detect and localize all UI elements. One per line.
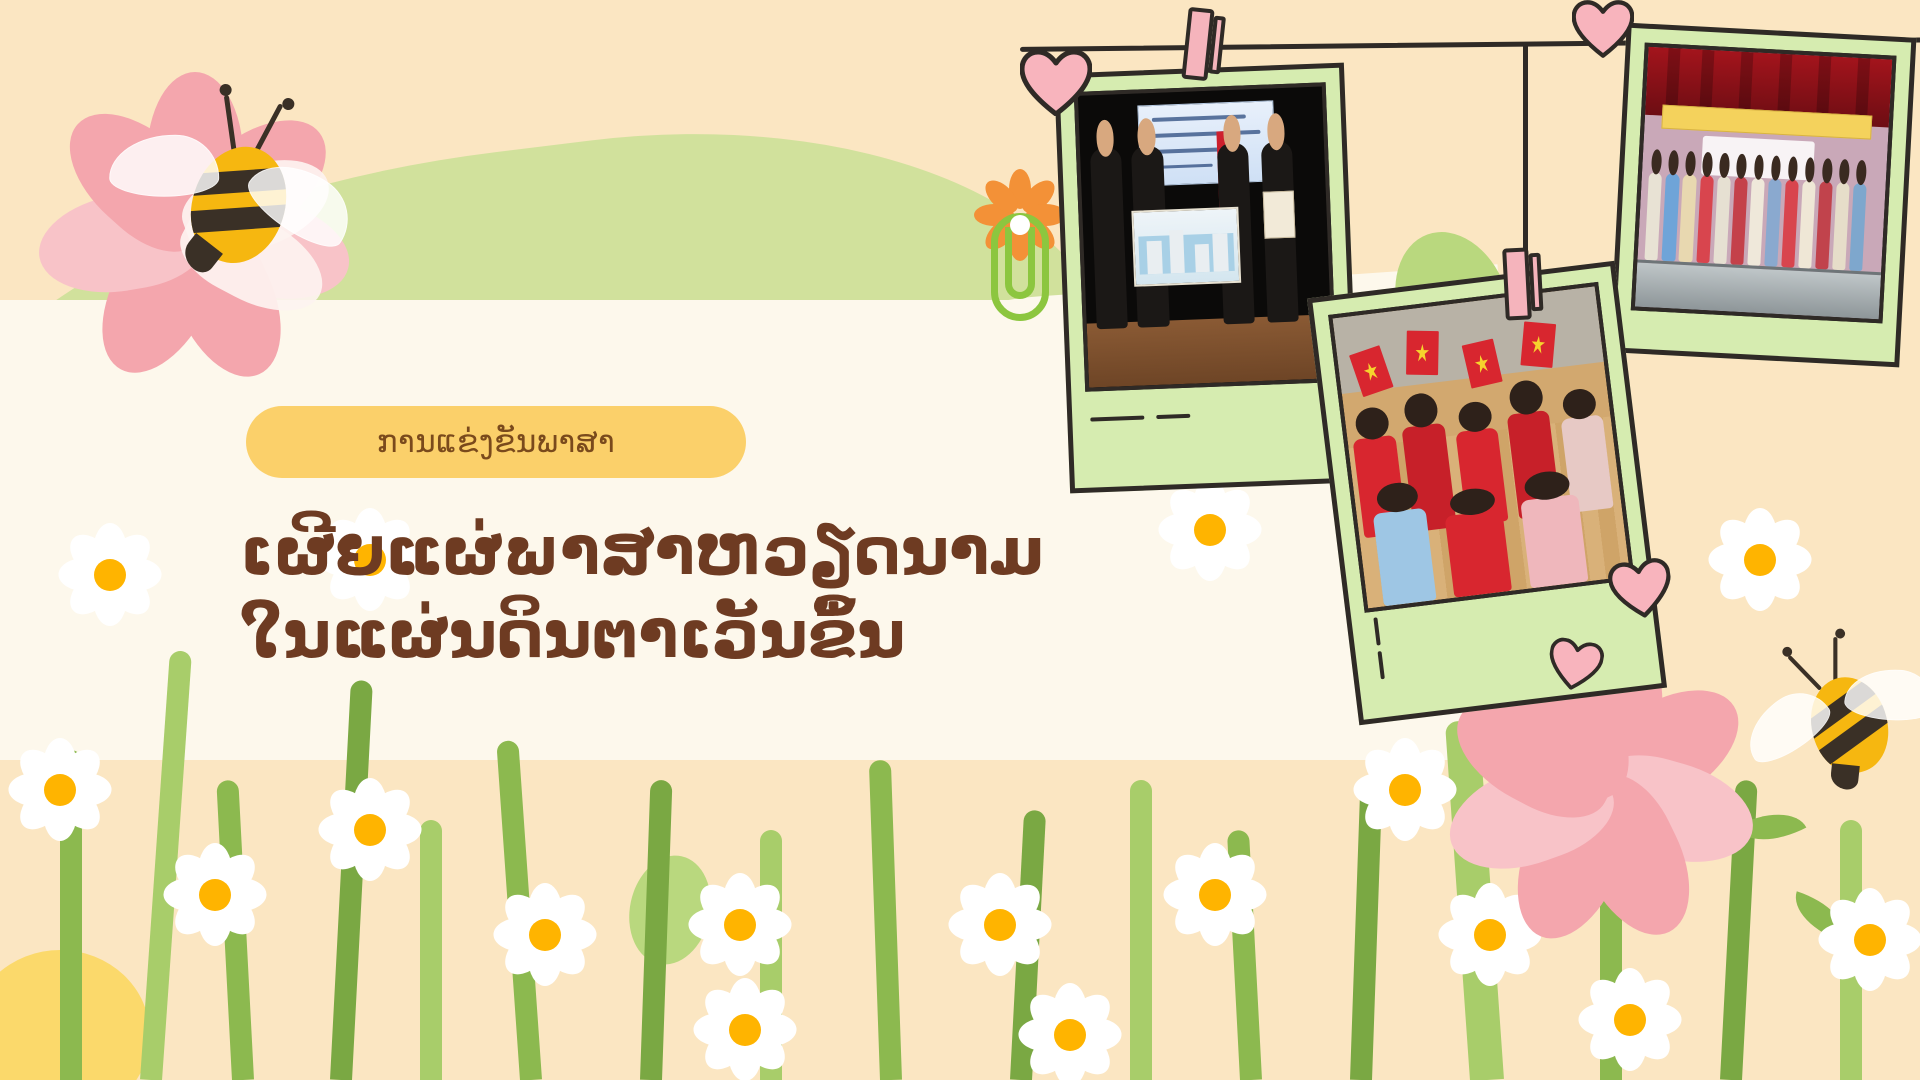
category-badge: ການແຂ່ງຂັນພາສາ [246,406,746,478]
heart-icon [1572,0,1634,58]
photo-card-kids-on-stage[interactable] [1610,23,1917,368]
category-badge-label: ການແຂ່ງຂັນພາສາ [377,427,616,458]
clothes-pin-icon [1181,7,1214,81]
photo-award-ceremony [1074,82,1337,391]
headline-line-1: ເຜີຍແຜ່ພາສາຫວຽດນາມ [240,510,1240,593]
grass-stem [1130,780,1152,1080]
heart-icon [1544,636,1606,695]
photo-kids-on-stage [1631,43,1897,324]
photo-card-award-ceremony[interactable] [1054,63,1360,494]
heart-icon [1606,556,1675,622]
hanging-string-drop [1523,44,1528,254]
grass-stem [420,820,442,1080]
slide-canvas: ການແຂ່ງຂັນພາສາ ເຜີຍແຜ່ພາສາຫວຽດນາມ ໃນແຜ່ນ… [0,0,1920,1080]
photo-caption-lines [1627,310,1882,387]
photo-caption-lines [1085,382,1339,456]
photo-card-kids-with-flags[interactable] [1307,261,1667,726]
photo-kids-with-flags [1328,282,1635,613]
headline-line-2: ໃນແຜ່ນດິນຕາເວັນຂຶ້ນ [240,593,1240,676]
heart-icon [1020,50,1092,116]
page-title: ເຜີຍແຜ່ພາສາຫວຽດນາມ ໃນແຜ່ນດິນຕາເວັນຂຶ້ນ [240,510,1240,676]
clothes-pin-icon [1502,247,1532,320]
